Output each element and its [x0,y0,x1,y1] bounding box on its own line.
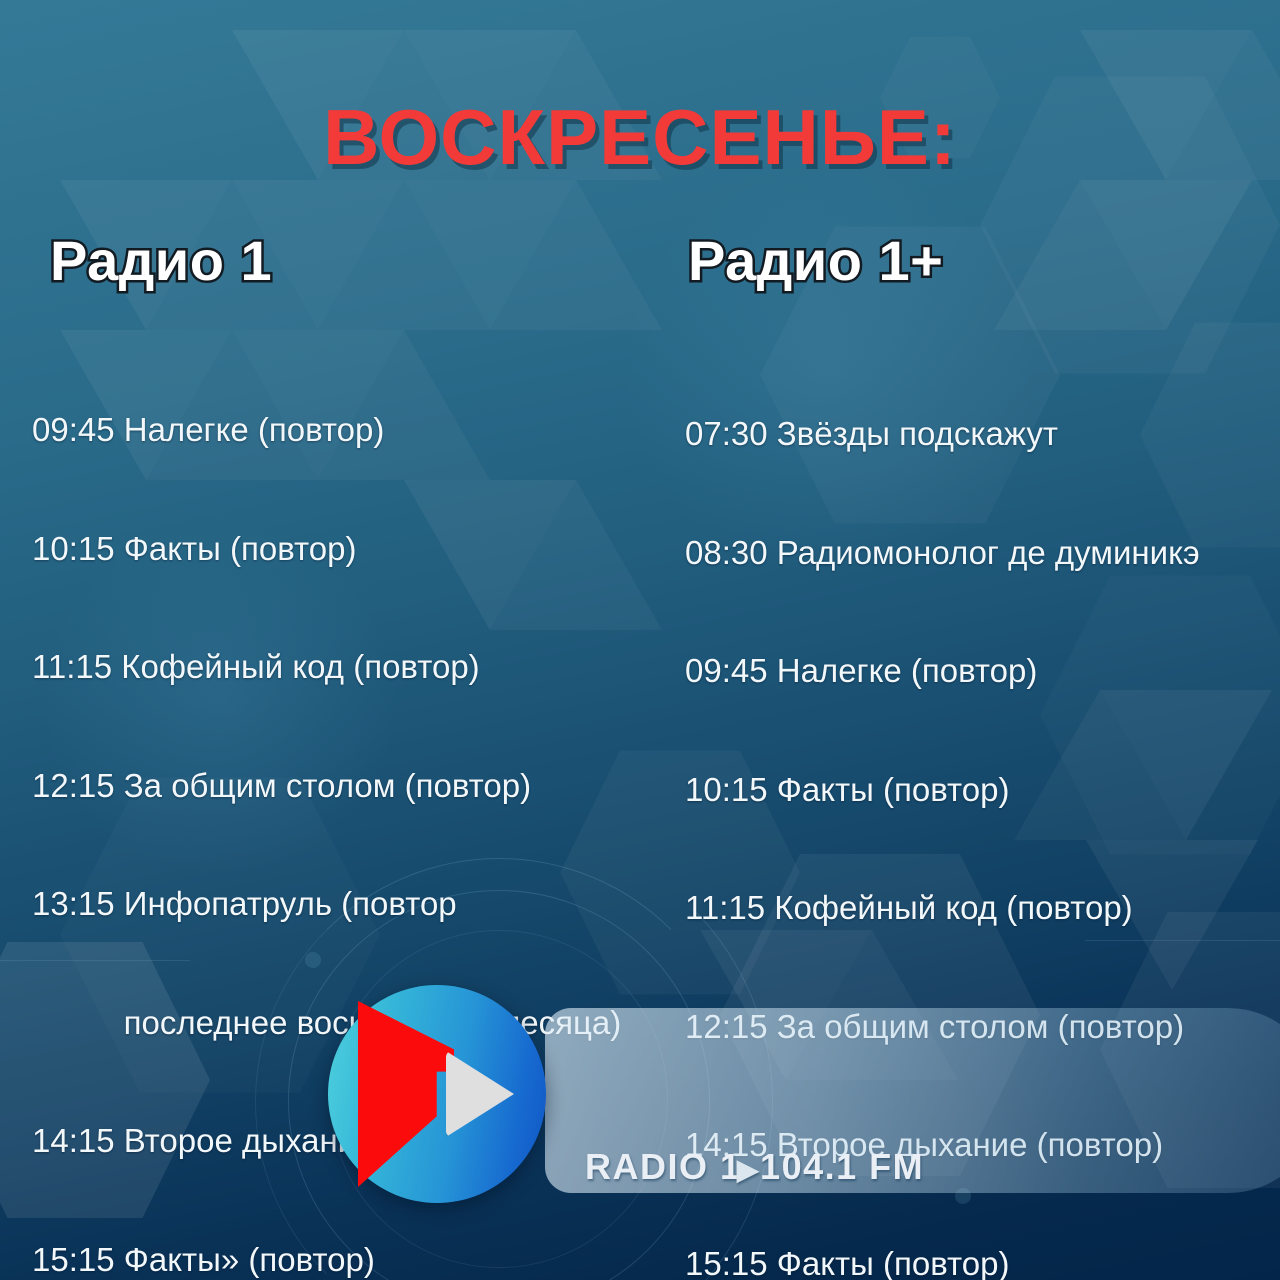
frequency-line: RADIO 1▶104.1 FM [585,1145,924,1192]
schedule-row: 13:15 Инфопатруль (повтор [32,884,621,924]
schedule-row: 07:30 Звёзды подскажут [685,414,1209,454]
schedule-row: 11:15 Кофейный код (повтор) [32,647,621,687]
gray-play-triangle-icon [446,1051,514,1137]
band-label: FM [869,1146,924,1187]
schedule-row: 12:15 За общим столом (повтор) [32,766,621,806]
frequency-text: RADIO 1▶104.1 FM PLUS▶105.1 FM [585,1057,924,1280]
station-name: RADIO 1 [585,1145,737,1189]
station-logo-block: RADIO 1▶104.1 FM PLUS▶105.1 FM [310,985,1030,1220]
schedule-row: 15:15 Факты» (повтор) [32,1240,621,1280]
column-heading-radio-1: Радио 1 [50,228,272,293]
schedule-row: 11:15 Кофейный код (повтор) [685,888,1209,928]
play-marker-icon: ▶ [737,1154,760,1185]
schedule-row: 08:30 Радиомонолог де думиникэ [685,533,1209,573]
column-heading-radio-1-plus: Радио 1+ [688,228,943,293]
schedule-row: 09:45 Налегке (повтор) [685,651,1209,691]
schedule-row: 10:15 Факты (повтор) [685,770,1209,810]
schedule-row: 10:15 Факты (повтор) [32,529,621,569]
page-title: ВОСКРЕСЕНЬЕ: [0,92,1280,183]
radio-play-arrow-logo-icon [328,985,546,1203]
radio-schedule-poster: ВОСКРЕСЕНЬЕ: Радио 1 09:45 Налегке (повт… [0,0,1280,1280]
frequency-value: 104.1 [760,1146,858,1187]
schedule-row: 09:45 Налегке (повтор) [32,410,621,450]
red-arrow-icon [358,1001,454,1187]
